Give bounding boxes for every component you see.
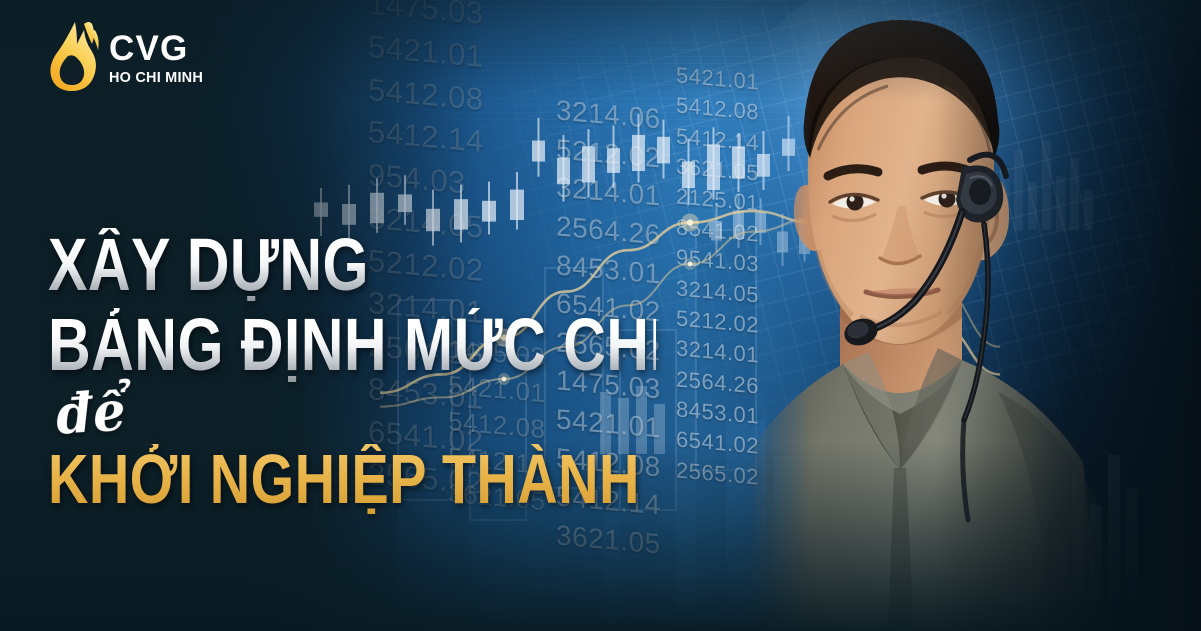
headline-script-word: để <box>54 383 128 442</box>
headline-block: XÂY DỰNG BẢNG ĐỊNH MỨC CHI PHÍ để KHỞI N… <box>48 228 808 514</box>
logo-brand-name: CVG <box>109 31 203 66</box>
headline-line-1: XÂY DỰNG <box>48 228 656 301</box>
logo-city-name: HO CHI MINH <box>109 71 203 86</box>
brand-logo[interactable]: CVG HO CHI MINH <box>44 20 203 92</box>
promotional-banner: 1475.035421.015412.085412.14954.033214.0… <box>0 0 1201 631</box>
headline-line-2: BẢNG ĐỊNH MỨC CHI PHÍ <box>48 308 656 381</box>
flame-icon <box>44 20 100 92</box>
headline-line-3: KHỞI NGHIỆP THÀNH CÔNG <box>48 444 656 514</box>
